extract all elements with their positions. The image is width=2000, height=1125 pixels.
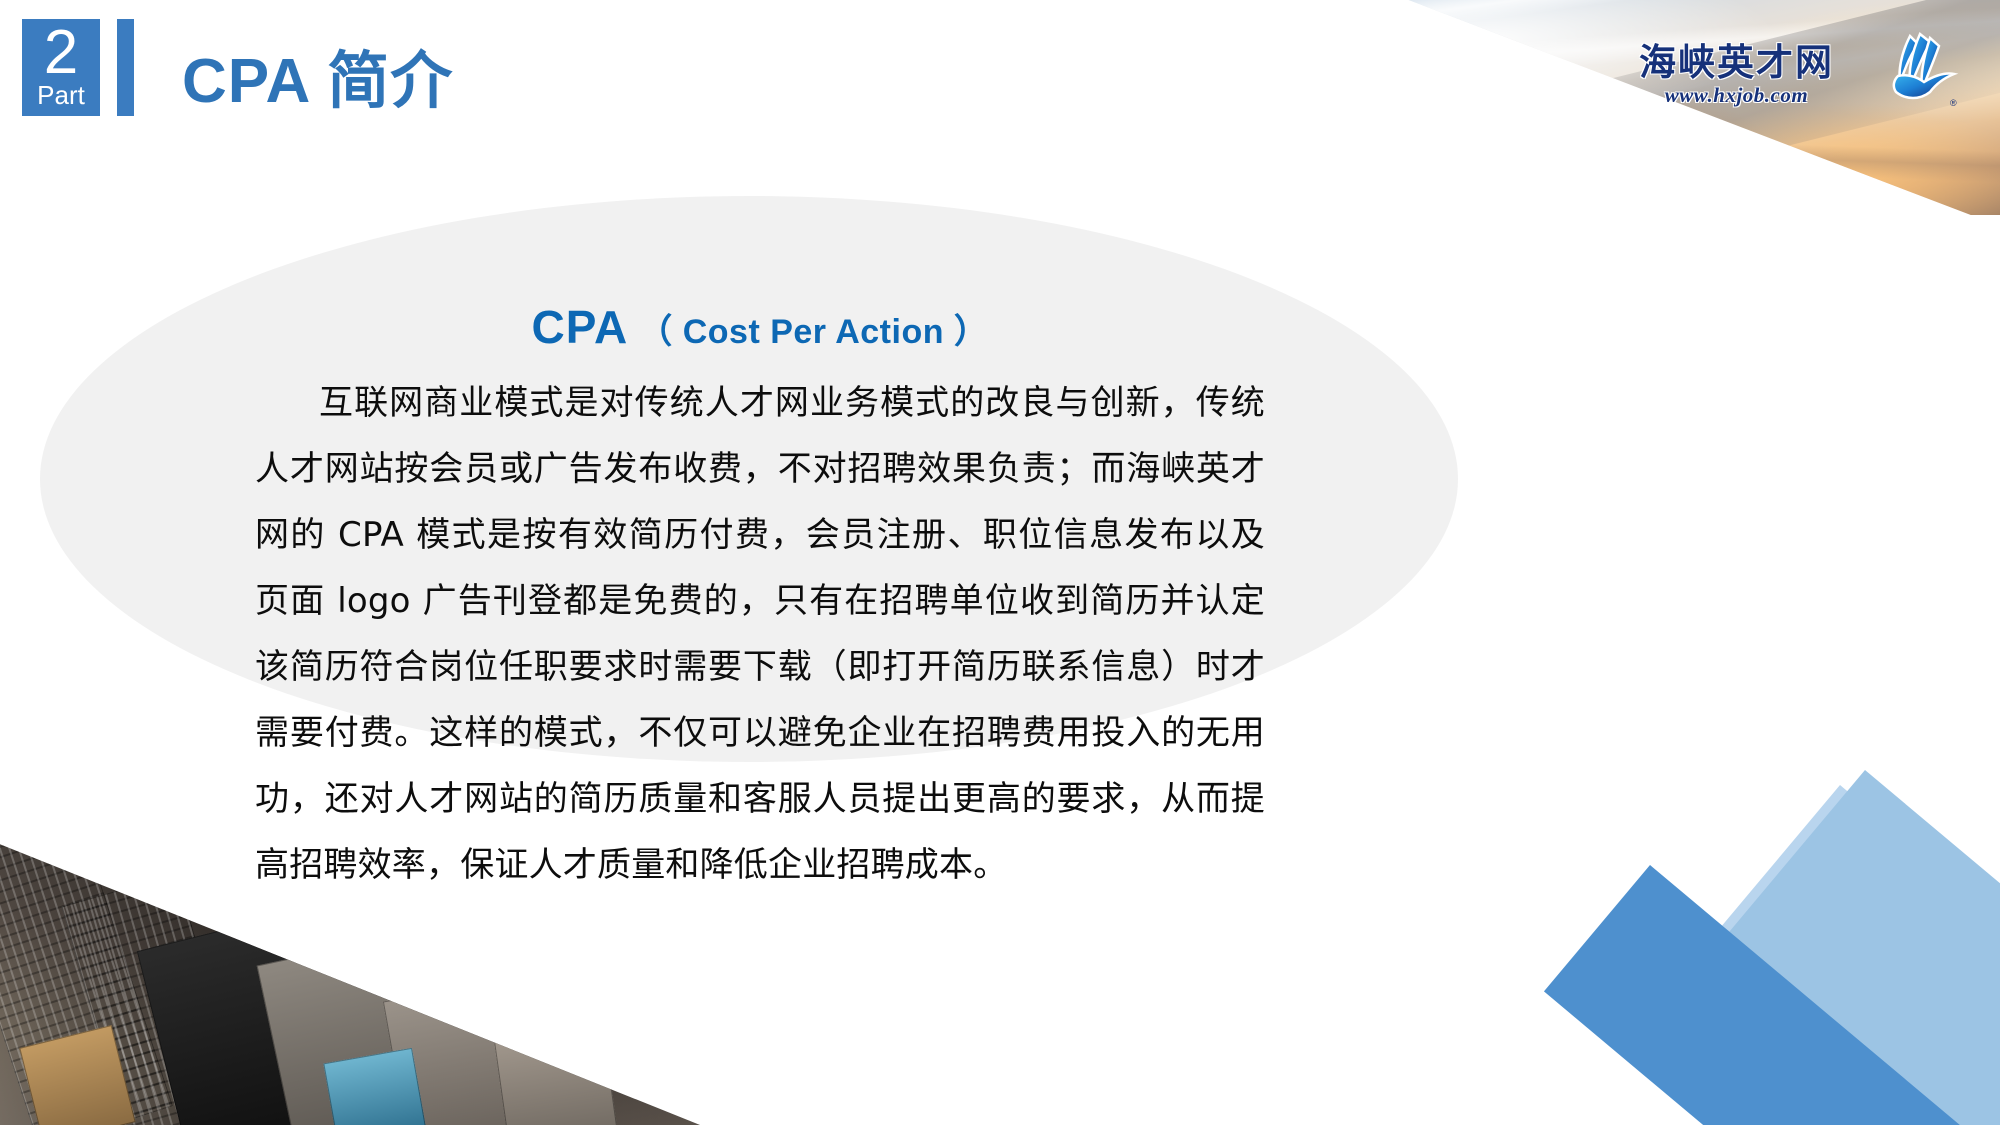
logo-text-block: 海峡英才网 www.hxjob.com bbox=[1639, 44, 1834, 106]
part-badge: 2 Part bbox=[22, 19, 100, 116]
body-paragraph: 互联网商业模式是对传统人才网业务模式的改良与创新，传统人才网站按会员或广告发布收… bbox=[255, 370, 1265, 898]
building bbox=[492, 1013, 618, 1125]
logo-website-url: www.hxjob.com bbox=[1665, 85, 1808, 106]
content-block: CPA（ Cost Per Action ） 互联网商业模式是对传统人才网业务模… bbox=[255, 300, 1265, 898]
registered-mark: ® bbox=[1950, 98, 1957, 108]
cpa-expansion: （ Cost Per Action ） bbox=[638, 313, 988, 351]
title-accent-bar bbox=[117, 19, 134, 116]
cpa-abbreviation: CPA bbox=[532, 301, 629, 353]
part-word-label: Part bbox=[37, 81, 85, 109]
part-number: 2 bbox=[44, 21, 78, 85]
bird-wing-icon: ® bbox=[1840, 30, 1960, 120]
slide-canvas: 海峡英才网 www.hxjob.com ® 2 Part CPA bbox=[0, 0, 2000, 1125]
brand-logo: 海峡英才网 www.hxjob.com ® bbox=[1639, 30, 1960, 120]
cpa-heading: CPA（ Cost Per Action ） bbox=[255, 300, 1265, 354]
logo-brand-name: 海峡英才网 bbox=[1639, 44, 1834, 81]
page-title: CPA 简介 bbox=[182, 30, 453, 120]
